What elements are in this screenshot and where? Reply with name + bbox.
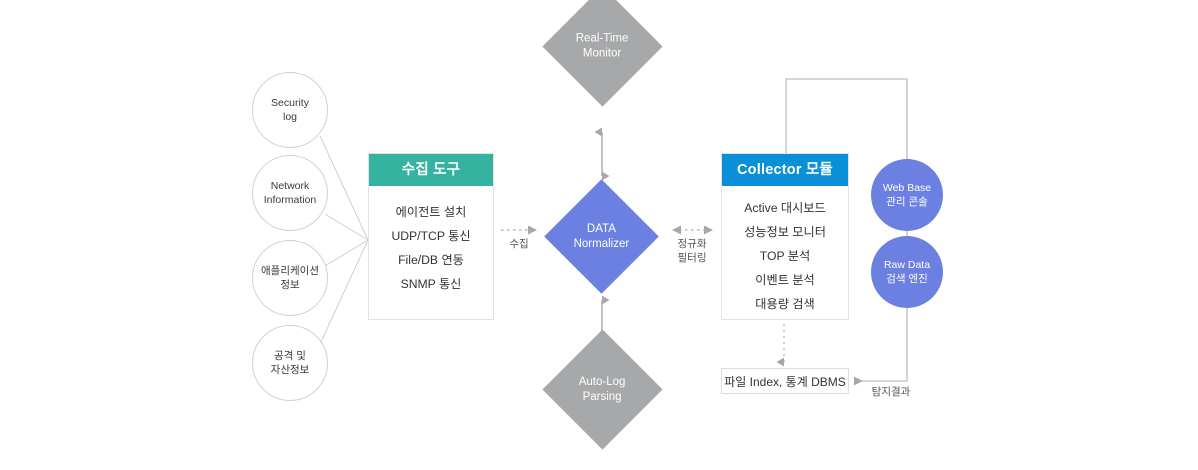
collector-module-item: 성능정보 모니터 [722,220,848,244]
raw-data-search-engine-circle[interactable]: Raw Data 검색 엔진 [871,236,943,308]
architecture-diagram: Security log Network Information 애플리케이션 … [0,0,1198,470]
source-label: 애플리케이션 정보 [261,264,319,292]
real-time-monitor-label: Real-Time Monitor [576,32,629,62]
collector-to-console-line [786,79,907,160]
raw-data-search-engine-label: Raw Data 검색 엔진 [884,258,930,286]
collector-module-item: Active 대시보드 [722,196,848,220]
data-normalizer-label: DATA Normalizer [574,222,630,252]
edge-label-normalize-filter: 정규화 필터링 [662,238,722,265]
collect-tool-item: SNMP 통신 [369,272,493,296]
collector-module-item: TOP 분석 [722,244,848,268]
source-circle-attack-asset-information[interactable]: 공격 및 자산정보 [252,325,328,401]
collect-tool-panel[interactable]: 수집 도구 에이전트 설치 UDP/TCP 통신 File/DB 연동 SNMP… [368,153,494,320]
collect-tool-item: File/DB 연동 [369,248,493,272]
source-converge-lines [320,136,368,344]
edge-label-collect: 수집 [497,238,541,252]
edge-label-detection-result: 탐지결과 [855,386,927,400]
collector-module-panel[interactable]: Collector 모듈 Active 대시보드 성능정보 모니터 TOP 분석… [721,153,849,320]
source-label: Network Information [264,179,317,207]
collect-tool-item: 에이전트 설치 [369,200,493,224]
storage-dbms-label: 파일 Index, 통계 DBMS [724,373,846,390]
detection-result-line [862,302,907,381]
auto-log-parsing-label: Auto-Log Parsing [579,375,626,405]
collect-tool-item: UDP/TCP 통신 [369,224,493,248]
source-label: 공격 및 자산정보 [271,349,310,377]
source-label: Security log [271,96,309,124]
collect-tool-title: 수집 도구 [369,154,493,186]
collector-module-title: Collector 모듈 [722,154,848,186]
storage-dbms-box[interactable]: 파일 Index, 통계 DBMS [721,368,849,394]
collector-module-items: Active 대시보드 성능정보 모니터 TOP 분석 이벤트 분석 대용량 검… [722,186,848,330]
collector-module-item: 대용량 검색 [722,292,848,316]
source-circle-security-log[interactable]: Security log [252,72,328,148]
web-base-console-circle[interactable]: Web Base 관리 콘솔 [871,159,943,231]
collect-tool-items: 에이전트 설치 UDP/TCP 통신 File/DB 연동 SNMP 통신 [369,186,493,310]
web-base-console-label: Web Base 관리 콘솔 [883,181,931,209]
source-circle-network-information[interactable]: Network Information [252,155,328,231]
collector-module-item: 이벤트 분석 [722,268,848,292]
source-circle-application-information[interactable]: 애플리케이션 정보 [252,240,328,316]
